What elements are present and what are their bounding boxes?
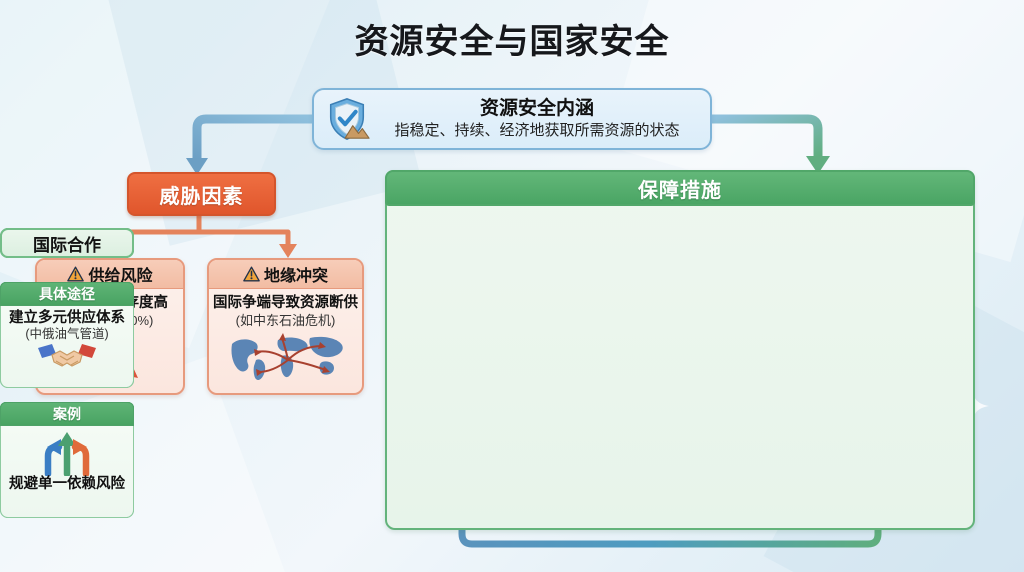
path-body-3: 建立多元供应体系 (中俄油气管道) (0, 306, 134, 388)
measure-column-title-3: 国际合作 (0, 228, 134, 258)
case-body-3: 规避单一依赖风险 (0, 426, 134, 518)
intro-card: 资源安全内涵 指稳定、持续、经济地获取所需资源的状态 (312, 88, 712, 150)
three-diverging-arrows-icon (31, 430, 103, 476)
path-line-2: (中俄油气管道) (4, 327, 130, 342)
intro-title: 资源安全内涵 (374, 98, 700, 120)
threat-card-title: 地缘冲突 (264, 262, 328, 286)
threat-art (213, 330, 358, 384)
measures-panel (385, 170, 975, 530)
path-art-3 (4, 342, 130, 372)
world-map-conflict-arrows-icon (226, 330, 346, 384)
handshake-flags-icon (36, 342, 98, 372)
case-label-3: 案例 (0, 402, 134, 426)
warning-triangle-icon (67, 266, 84, 282)
warning-triangle-icon (243, 266, 260, 282)
threat-card-body: 国际争端导致资源断供 (如中东石油危机) (209, 289, 362, 384)
path-label-3: 具体途径 (0, 282, 134, 306)
case-art-3 (4, 430, 130, 476)
connector-intro-to-threats (186, 119, 312, 175)
threat-line-2: (如中东石油危机) (213, 313, 358, 329)
threats-heading: 威胁因素 (127, 172, 276, 216)
intro-subtitle: 指稳定、持续、经济地获取所需资源的状态 (374, 122, 700, 139)
case-text-3: 规避单一依赖风险 (4, 476, 130, 493)
measures-heading: 保障措施 (385, 170, 975, 206)
shield-check-resources-icon (324, 96, 370, 142)
page-title: 资源安全与国家安全 (0, 14, 1024, 63)
connector-intro-to-measures (712, 119, 830, 174)
threat-card-geopolitical-conflict: 地缘冲突 国际争端导致资源断供 (如中东石油危机) (207, 258, 364, 395)
path-line-1: 建立多元供应体系 (4, 310, 130, 327)
threat-card-header: 地缘冲突 (209, 260, 362, 289)
threat-line-1: 国际争端导致资源断供 (213, 295, 358, 312)
